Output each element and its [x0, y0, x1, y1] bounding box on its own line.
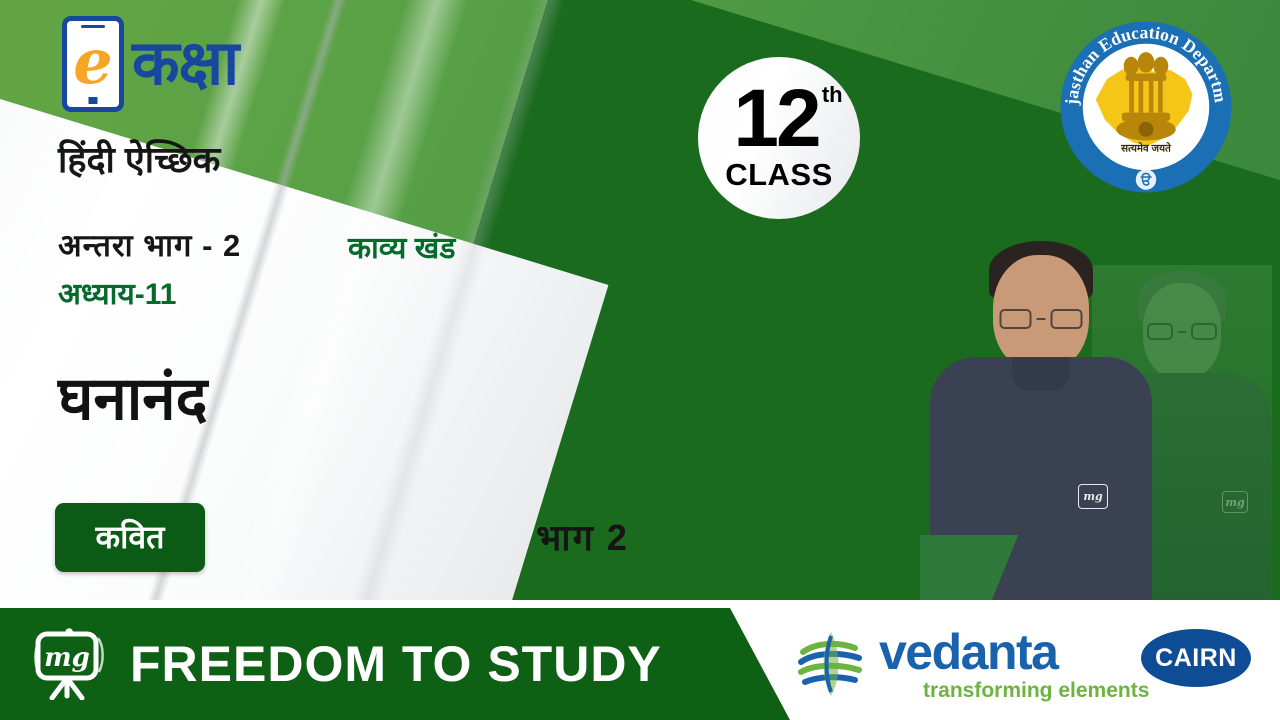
logo-letter-e: e — [73, 31, 112, 93]
lens-right — [1191, 323, 1217, 340]
emblem-sub-icon: ੳ — [1140, 172, 1152, 188]
class-number-text: 12 — [733, 73, 818, 164]
sponsor-vedanta: vedanta transforming elements — [793, 626, 1149, 702]
emblem-motto: सत्यमेव जयते — [1120, 142, 1172, 155]
vedanta-tagline: transforming elements — [923, 680, 1149, 701]
face — [1143, 283, 1221, 379]
emblem-svg: Rajasthan Education Department सत्यमेव ज… — [1046, 14, 1246, 200]
vedanta-name: vedanta — [879, 627, 1149, 677]
logo-word-kaksha: कक्षा — [132, 33, 238, 95]
mg-easel-icon: mg — [30, 628, 108, 700]
rajasthan-education-department-emblem: Rajasthan Education Department सत्यमेव ज… — [1046, 14, 1246, 200]
section-label: काव्य खंड — [348, 226, 455, 267]
class-number: 12 th — [733, 83, 818, 155]
mg-letters: mg — [44, 643, 90, 673]
cairn-name: CAIRN — [1155, 644, 1237, 673]
vedanta-wordmark: vedanta transforming elements — [879, 627, 1149, 701]
tablet-icon: e — [62, 16, 124, 112]
instructor-front: mg — [930, 233, 1152, 605]
glasses-icon — [1147, 323, 1217, 340]
class-superscript: th — [822, 85, 843, 104]
part-label: भाग 2 — [536, 512, 629, 561]
chapter-label: अध्याय-11 — [58, 272, 176, 313]
subject-label: हिंदी ऐच्छिक — [58, 134, 220, 183]
footer-banner: mg FREEDOM TO STUDY — [0, 608, 790, 720]
page-title: घनानंद — [58, 355, 207, 437]
bridge — [1037, 318, 1046, 320]
class-badge: 12 th CLASS — [698, 57, 860, 219]
vedanta-logo-icon — [793, 626, 869, 702]
glasses-icon — [1000, 309, 1083, 329]
book-label: अन्तरा भाग - 2 — [58, 224, 241, 266]
instructor-photos: mg mg — [920, 215, 1280, 605]
collar — [1012, 357, 1070, 391]
mg-easel-svg: mg — [30, 628, 108, 700]
sponsor-cairn: CAIRN — [1141, 629, 1251, 687]
bridge — [1178, 331, 1186, 333]
tagline: FREEDOM TO STUDY — [130, 635, 662, 693]
ekaksha-logo: e कक्षा — [62, 16, 238, 112]
mg-shirt-badge: mg — [1078, 484, 1108, 509]
lens-left — [1000, 309, 1032, 329]
lens-right — [1051, 309, 1083, 329]
mg-shirt-badge: mg — [1222, 491, 1248, 513]
status-badge: कवित — [55, 503, 205, 572]
title-slide: e कक्षा हिंदी ऐच्छिक अन्तरा भाग - 2 काव्… — [0, 0, 1280, 720]
